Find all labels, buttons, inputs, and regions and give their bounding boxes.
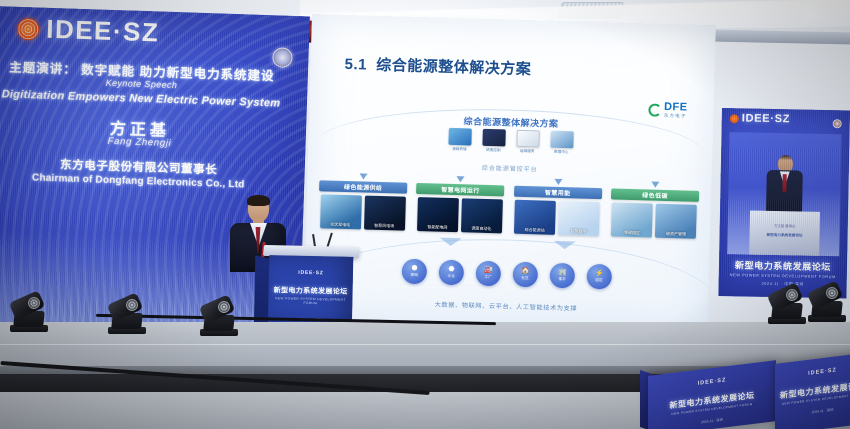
- diagram-group-header: 智慧电网运行: [416, 183, 504, 196]
- diagram-group: 绿色能源供给 光伏发电站 智慧风电场: [318, 172, 408, 230]
- diagram-card: 光伏发电站: [320, 194, 362, 229]
- diagram-card-label: 综合能源站: [514, 227, 555, 234]
- park-icon: ⚡: [595, 270, 604, 277]
- dfe-logo-text: DFE: [664, 102, 688, 114]
- diagram-group-cards: 零碳园区 碳资产管理: [610, 202, 699, 238]
- diagram-circle-label: 源网: [410, 273, 418, 278]
- diagram-group-cards: 综合能源站 智慧楼宇: [513, 200, 602, 236]
- idee-logo-text: IDEE·SZ: [46, 14, 160, 49]
- conference-stage-photo: IDEE·SZ 主题演讲： 数字赋能 助力新型电力系统建设 Keynote Sp…: [0, 0, 850, 429]
- grid-icon: ⬢: [411, 265, 417, 272]
- diagram-circle-badge: 🏭 工厂: [475, 261, 501, 287]
- left-screen-logo: IDEE·SZ: [17, 13, 160, 49]
- diagram-card-label: 智能配电网: [417, 224, 458, 231]
- slide-section-title: 综合能源整体解决方案: [376, 57, 531, 78]
- down-arrow-icon: [457, 176, 465, 182]
- diagram-circle-label: 工厂: [484, 275, 492, 280]
- diagram-card-label: 智慧风电场: [364, 223, 405, 230]
- diagram-circle-label: 社区: [521, 276, 529, 281]
- idee-dot-mark-icon: [17, 17, 40, 40]
- podium-logo-text: IDEE·SZ: [269, 269, 353, 277]
- diagram-group: 智慧用能 综合能源站 智慧楼宇: [513, 178, 603, 236]
- diagram-group: 智慧电网运行 智能配电网 调度自动化: [415, 175, 505, 233]
- diagram-group-cards: 光伏发电站 智慧风电场: [318, 194, 407, 230]
- enterprise-icon: ⬣: [448, 266, 454, 273]
- right-screen-emblem-icon: [833, 119, 842, 128]
- feed-speaker-figure: [766, 155, 803, 218]
- slide-title: 5.1 综合能源整体解决方案: [344, 53, 531, 79]
- foreground-logo-text: IDEE·SZ: [775, 363, 850, 381]
- down-arrow-icon: [554, 179, 562, 185]
- right-screen-logo: IDEE·SZ: [730, 112, 791, 125]
- moving-head-light: [766, 288, 808, 324]
- slide-section-number: 5.1: [344, 56, 367, 74]
- data-icon: [550, 131, 573, 149]
- moving-head-light: [806, 286, 848, 322]
- feed-podium: 方正基 董事长 新型电力系统发展论坛: [749, 211, 820, 257]
- diagram-tile-label: 运维服务: [516, 148, 539, 154]
- podium-title-en: NEW POWER SYSTEM DEVELOPMENT FORUM: [268, 296, 352, 306]
- diagram-group-header: 绿色能源供给: [319, 180, 407, 193]
- dfe-ring-icon: [648, 103, 661, 116]
- diagram-group-row: 绿色能源供给 光伏发电站 智慧风电场 智慧电网运行 智能配电网 调度自动化: [318, 172, 699, 239]
- diagram-card: 碳资产管理: [655, 204, 697, 239]
- diagram-tile: 运维服务: [516, 130, 540, 154]
- feed-speaker-head: [778, 155, 793, 173]
- slide-diagram: 综合能源整体解决方案 源网荷储 调度控制 运维服务 数据中心: [303, 110, 713, 335]
- diagram-tile: 调度控制: [482, 129, 506, 153]
- service-icon: [516, 130, 539, 148]
- diagram-circle-badge: ⬢ 源网: [402, 259, 428, 285]
- diagram-circle-badge: 🏢 楼宇: [549, 263, 575, 289]
- live-camera-feed: 方正基 董事长 新型电力系统发展论坛: [727, 132, 841, 256]
- chevron-down-icon: [440, 238, 462, 247]
- foreground-panel-right: IDEE·SZ 新型电力系统发展论坛 NEW POWER SYSTEM DEVE…: [775, 352, 850, 429]
- moving-head-light: [8, 296, 50, 332]
- diagram-circle-label: 楼宇: [558, 277, 566, 282]
- factory-icon: 🏭: [484, 267, 493, 274]
- diagram-circle-badge: ⚡ 园区: [586, 264, 612, 290]
- diagram-group-cards: 智能配电网 调度自动化: [415, 197, 504, 233]
- podium-title-cn: 新型电力系统发展论坛: [269, 285, 353, 297]
- diagram-card-label: 光伏发电站: [320, 221, 361, 228]
- feed-speaker-body: [766, 170, 803, 218]
- diagram-group-header: 智慧用能: [514, 186, 602, 199]
- right-led-panel: IDEE·SZ 方正基 董事长 新型电力系统发展论坛 新型电力系统发展论坛 NE…: [718, 108, 850, 298]
- diagram-card: 智慧楼宇: [558, 201, 600, 236]
- right-screen-logo-text: IDEE·SZ: [742, 112, 791, 125]
- diagram-tile-label: 数据中心: [550, 149, 573, 155]
- diagram-card: 零碳园区: [611, 202, 653, 237]
- stage-floor-seam: [0, 344, 850, 345]
- diagram-circle-badge: 🏠 社区: [512, 262, 538, 288]
- diagram-circle-label: 园区: [595, 278, 603, 283]
- diagram-card: 调度自动化: [461, 198, 503, 233]
- diagram-tile-label: 源网荷储: [448, 146, 471, 152]
- dfe-brand-logo: DFE 东方电子: [648, 101, 688, 119]
- diagram-group: 绿色低碳 零碳园区 碳资产管理: [610, 180, 700, 238]
- diagram-tile-label: 调度控制: [482, 147, 505, 153]
- diagram-card-label: 碳资产管理: [655, 231, 696, 238]
- feed-speaker-tie: [782, 174, 786, 192]
- diagram-tile: 源网荷储: [448, 128, 472, 152]
- right-caption-en: NEW POWER SYSTEM DEVELOPMENT FORUM: [723, 273, 843, 279]
- building-icon: 🏢: [558, 269, 567, 276]
- feed-speaker-shirt: [779, 171, 789, 187]
- feed-podium-line-2: 新型电力系统发展论坛: [750, 233, 820, 239]
- dfe-logo-sub: 东方电子: [664, 113, 688, 120]
- right-caption-cn: 新型电力系统发展论坛: [723, 258, 843, 273]
- diagram-card: 综合能源站: [514, 200, 556, 235]
- diagram-card-label: 智慧楼宇: [558, 228, 599, 235]
- chevron-down-icon: [554, 241, 576, 250]
- control-room-icon: [482, 129, 505, 147]
- idee-dot-mark-icon: [730, 114, 739, 123]
- speaker-hair: [247, 195, 270, 206]
- diagram-card-label: 零碳园区: [611, 229, 652, 236]
- moving-head-light: [106, 298, 148, 334]
- monitor-icon: [448, 128, 471, 146]
- down-arrow-icon: [359, 173, 367, 179]
- diagram-tile: 数据中心: [550, 131, 574, 155]
- diagram-card: 智能配电网: [417, 197, 459, 232]
- feed-podium-line-1: 方正基 董事长: [750, 223, 820, 229]
- center-projection-screen: 5.1 综合能源整体解决方案 DFE 东方电子 综合能源整体解决方案 源网荷储: [303, 14, 715, 335]
- down-arrow-icon: [651, 182, 659, 188]
- diagram-card-label: 调度自动化: [461, 225, 502, 232]
- diagram-circle-badge: ⬣ 企业: [438, 260, 464, 286]
- diagram-group-header: 绿色低碳: [611, 188, 699, 201]
- diagram-circle-label: 企业: [447, 274, 455, 279]
- moving-head-light: [198, 300, 240, 336]
- diagram-card: 智慧风电场: [364, 196, 406, 231]
- community-icon: 🏠: [521, 268, 530, 275]
